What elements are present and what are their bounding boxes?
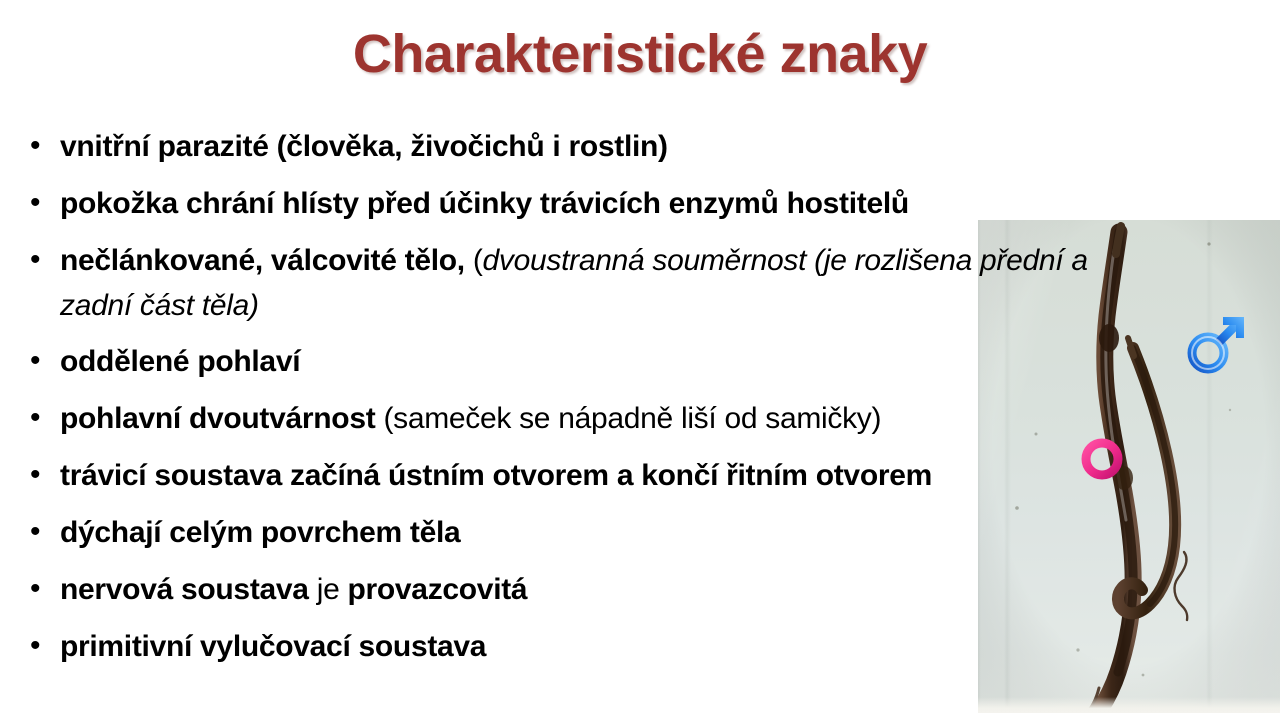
bullet-marker-icon: •	[18, 624, 60, 668]
male-gender-symbol	[1181, 308, 1253, 380]
bullet-item-travici-soustava: •trávicí soustava začíná ústním otvorem …	[18, 453, 1148, 510]
bullet-marker-icon: •	[18, 238, 60, 282]
slide-canvas: Charakteristické znaky •vnitřní parazité…	[0, 0, 1280, 720]
bullet-text-run: primitivní vylučovací soustava	[60, 630, 486, 663]
bullet-text-run: (	[465, 244, 483, 277]
bullet-text-vylucovaci-soustava: primitivní vylučovací soustava	[60, 624, 1148, 669]
bullet-item-dychaji-povrchem: •dýchají celým povrchem těla	[18, 510, 1148, 567]
bullet-text-neclankovane-telo: nečlánkované, válcovité tělo, (dvoustran…	[60, 238, 1148, 328]
bullet-marker-icon: •	[18, 510, 60, 554]
bullet-item-neclankovane-telo: •nečlánkované, válcovité tělo, (dvoustra…	[18, 238, 1148, 339]
bullet-list: •vnitřní parazité (člověka, živočichů i …	[18, 124, 1148, 681]
bullet-text-dychaji-povrchem: dýchají celým povrchem těla	[60, 510, 1148, 555]
bullet-text-vnitrni-parazite: vnitřní parazité (člověka, živočichů i r…	[60, 124, 1148, 169]
bullet-text-run: pokožka chrání hlísty před účinky trávic…	[60, 187, 909, 220]
bullet-text-oddelene-pohlavi: oddělené pohlaví	[60, 339, 1148, 384]
slide-title: Charakteristické znaky	[0, 24, 1280, 84]
bullet-text-run: oddělené pohlaví	[60, 345, 300, 378]
bullet-text-run: (sameček se nápadně liší od samičky)	[375, 402, 881, 435]
bullet-item-pokozka-chrani: •pokožka chrání hlísty před účinky trávi…	[18, 181, 1148, 238]
photo-bottom-edge	[978, 697, 1280, 713]
bullet-item-oddelene-pohlavi: •oddělené pohlaví	[18, 339, 1148, 396]
bullet-text-run: vnitřní parazité (člověka, živočichů i r…	[60, 130, 668, 163]
bullet-text-run: je	[309, 573, 348, 606]
bullet-item-vylucovaci-soustava: •primitivní vylučovací soustava	[18, 624, 1148, 681]
bullet-marker-icon: •	[18, 453, 60, 497]
bullet-text-run: dýchají celým povrchem těla	[60, 516, 460, 549]
bullet-marker-icon: •	[18, 567, 60, 611]
bullet-text-run: provazcovitá	[348, 573, 528, 606]
bullet-text-run: pohlavní dvoutvárnost	[60, 402, 375, 435]
bullet-text-pokozka-chrani: pokožka chrání hlísty před účinky trávic…	[60, 181, 1148, 226]
bullet-text-run: nervová soustava	[60, 573, 309, 606]
bullet-text-travici-soustava: trávicí soustava začíná ústním otvorem a…	[60, 453, 1148, 498]
bullet-item-nervova-soustava: •nervová soustava je provazcovitá	[18, 567, 1148, 624]
bullet-item-pohlavni-dvoutvarnost: •pohlavní dvoutvárnost (sameček se nápad…	[18, 396, 1148, 453]
bullet-text-run: trávicí soustava začíná ústním otvorem a…	[60, 459, 932, 492]
bullet-text-nervova-soustava: nervová soustava je provazcovitá	[60, 567, 1148, 612]
bullet-marker-icon: •	[18, 339, 60, 383]
female-gender-symbol	[1070, 434, 1134, 510]
bullet-marker-icon: •	[18, 396, 60, 440]
bullet-item-vnitrni-parazite: •vnitřní parazité (člověka, živočichů i …	[18, 124, 1148, 181]
bullet-text-pohlavni-dvoutvarnost: pohlavní dvoutvárnost (sameček se nápadn…	[60, 396, 1148, 441]
bullet-text-run: nečlánkované, válcovité tělo,	[60, 244, 465, 277]
bullet-marker-icon: •	[18, 124, 60, 168]
bullet-marker-icon: •	[18, 181, 60, 225]
